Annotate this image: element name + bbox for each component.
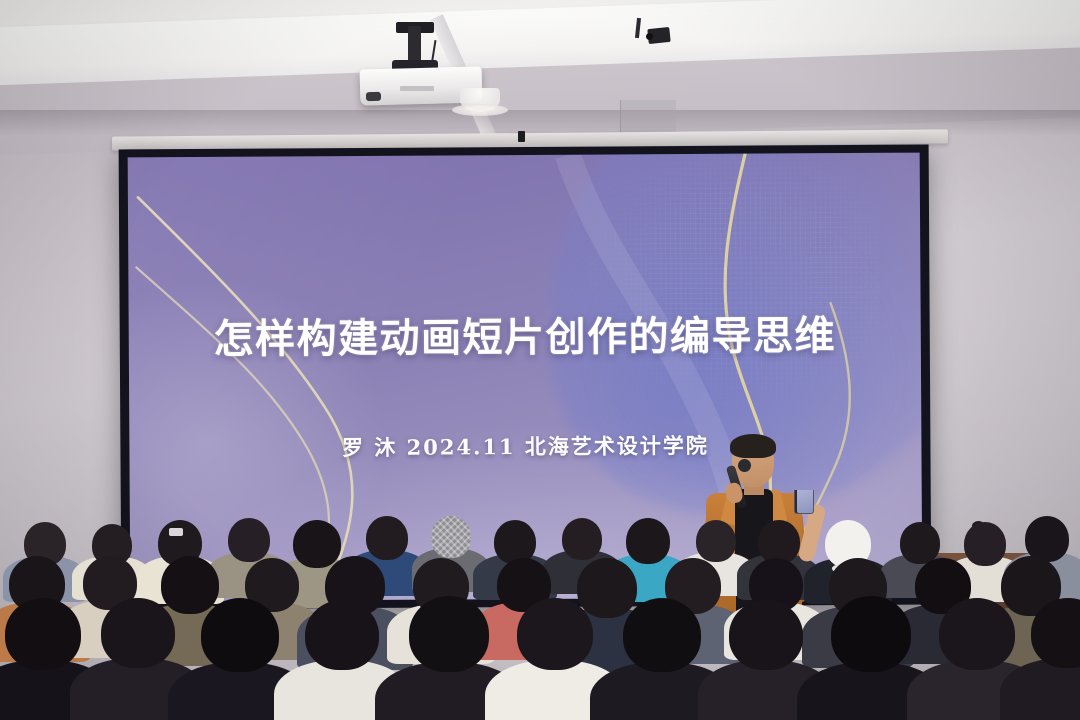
audience-seating [0,490,1080,720]
audience-member [1026,588,1080,720]
audience-member-head [305,600,379,670]
lecture-hall-scene: 怎样构建动画短片创作的编导思维 罗 沐 2024.11 北海艺术设计学院 [0,0,1080,720]
audience-member-head [517,598,593,670]
hair-clip-icon [169,528,183,536]
audience-member-head [409,596,489,672]
audience-member [826,586,916,720]
audience-member-head [623,598,701,672]
audience-member-head [1031,598,1080,668]
smartphone-screen [797,490,813,513]
handheld-microphone-head [738,459,751,472]
audience-member [300,590,384,720]
audience-member [512,588,598,720]
audience-member-head [5,598,81,670]
audience-member [724,590,808,720]
audience-member [618,588,706,720]
projector-brand-plate [400,86,434,91]
projector-lens-icon [366,92,381,101]
camera-lens-icon [646,33,653,40]
audience-member-head [831,596,911,672]
audience-member-head [729,600,803,670]
audience-member-head [101,598,175,668]
audience-member-head [201,598,279,672]
audience-member [404,586,494,720]
audience-member [196,588,284,720]
ceiling-light-ring [452,104,508,116]
slide-title: 怎样构建动画短片创作的编导思维 [129,303,921,366]
screen-pull-knob[interactable] [518,131,525,142]
audience-member-head [939,598,1015,670]
presenter-hair [730,434,776,458]
smartphone-icon [794,490,814,514]
